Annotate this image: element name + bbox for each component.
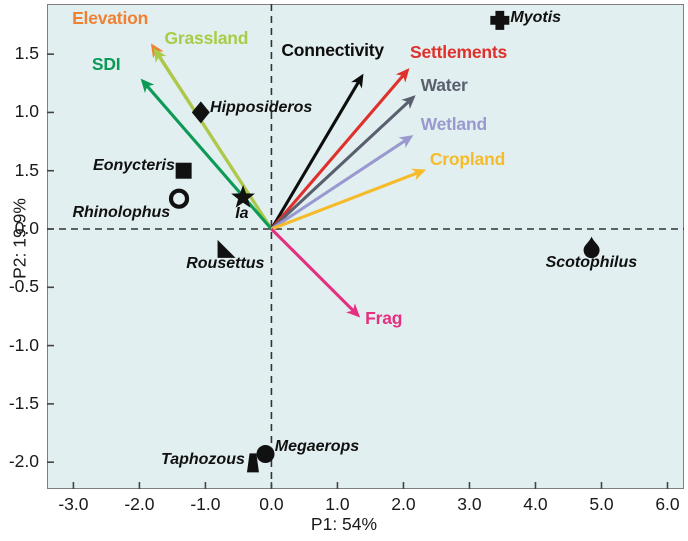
vector-label-grassland: Grassland (164, 28, 248, 49)
species-label-megaerops: Megaerops (275, 438, 359, 456)
vector-label-settlements: Settlements (410, 42, 507, 63)
y-tick-label: 1.5 (0, 43, 39, 64)
vector-label-sdi: SDI (92, 54, 121, 75)
x-axis-title: P1: 54% (0, 514, 688, 535)
species-label-ia: Ia (235, 205, 248, 223)
vector-label-water: Water (421, 75, 468, 96)
y-tick-label: 1.0 (0, 101, 39, 122)
species-label-taphozous: Taphozous (161, 451, 245, 469)
species-label-scotophilus: Scotophilus (546, 254, 638, 272)
species-label-hipposideros: Hipposideros (210, 99, 312, 117)
marker-eonycteris (176, 163, 192, 179)
species-label-eonycteris: Eonycteris (93, 157, 175, 175)
species-label-rousettus: Rousettus (186, 255, 264, 273)
species-label-myotis: Myotis (510, 9, 561, 27)
x-tick-label: 6.0 (627, 494, 688, 515)
species-label-rhinolophus: Rhinolophus (72, 204, 170, 222)
vector-label-connectivity: Connectivity (281, 40, 384, 61)
marker-rhinolophus (171, 191, 187, 207)
pca-biplot-figure: -3.0-2.0-1.00.01.02.03.04.05.06.01.51.01… (0, 0, 688, 541)
vector-settlements (271, 70, 407, 229)
marker-hipposideros (192, 101, 210, 123)
loading-vectors (143, 46, 424, 315)
y-axis-title: P2: 19.9% (10, 129, 31, 349)
vector-label-elevation: Elevation (72, 8, 148, 29)
y-tick-label: -2.0 (0, 451, 39, 472)
marker-myotis (490, 11, 509, 30)
y-tick-label: -1.5 (0, 393, 39, 414)
vector-label-cropland: Cropland (430, 149, 505, 170)
vector-frag (271, 229, 357, 315)
vector-label-frag: Frag (365, 308, 402, 329)
species-markers (171, 11, 600, 473)
vector-label-wetland: Wetland (421, 114, 487, 135)
marker-megaerops (256, 445, 274, 463)
